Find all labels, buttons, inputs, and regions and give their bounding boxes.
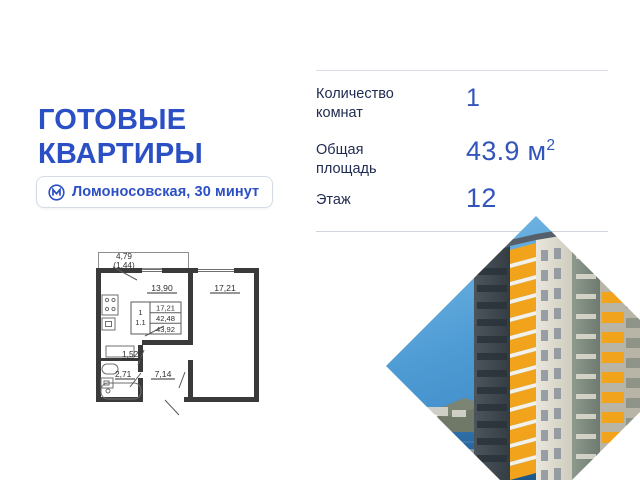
spec-label-rooms-line2: комнат: [316, 105, 363, 121]
spec-label-rooms-line1: Количество: [316, 86, 394, 102]
spec-label-rooms: Количество комнат: [316, 85, 466, 123]
page-title-line-2: КВАРТИРЫ: [38, 138, 298, 172]
apartment-listing-card: ГОТОВЫЕ КВАРТИРЫ Ломоносовская, 30 минут…: [0, 0, 640, 480]
plan-stamp-apartment-sub: 1.1: [135, 318, 146, 327]
metro-badge[interactable]: Ломоносовская, 30 минут: [36, 176, 273, 208]
plan-label-wc: 1,52: [122, 349, 139, 359]
photo-building: [474, 228, 640, 480]
page-title-line-1: ГОТОВЫЕ: [38, 104, 298, 138]
spec-label-total-area-line2: площадь: [316, 161, 377, 177]
plan-label-balcony-area: 4,79: [116, 252, 132, 261]
spec-value-rooms: 1: [466, 86, 480, 111]
plan-label-room: 17,21: [214, 283, 236, 293]
spec-value-total-area-sup: 2: [546, 137, 555, 154]
metro-badge-label: Ломоносовская, 30 минут: [72, 184, 259, 200]
spec-row-total-area: Общая площадь 43.9 м2: [316, 123, 608, 179]
photo-diamond-clip: [386, 206, 640, 480]
spec-value-total-area: 43.9 м2: [466, 138, 555, 165]
spec-label-total-area: Общая площадь: [316, 141, 466, 179]
plan-label-bath: 2,71: [115, 369, 132, 379]
spec-label-total-area-line1: Общая: [316, 142, 363, 158]
plan-stamp-apartment-no: 1: [138, 308, 142, 317]
spec-row-rooms: Количество комнат 1: [316, 71, 608, 123]
spec-value-total-area-number: 43.9 м: [466, 136, 546, 166]
plan-label-balcony-coeff: (1,44): [113, 261, 135, 270]
page-title: ГОТОВЫЕ КВАРТИРЫ: [38, 104, 298, 171]
plan-label-kitchen-living: 13,90: [151, 283, 173, 293]
plan-stamp-area-with-balcony: 43,92: [156, 325, 175, 334]
plan-stamp-living-total: 17,21: [156, 304, 175, 313]
plan-label-hall: 7,14: [155, 369, 172, 379]
floor-plan[interactable]: 4,79 (1,44) 13,90 17,21 7,14 1,52 2,71: [84, 240, 270, 420]
metro-logo-icon: [48, 184, 65, 201]
plan-stamp-area-without-balcony: 42,48: [156, 314, 175, 323]
building-photo: [386, 206, 640, 480]
